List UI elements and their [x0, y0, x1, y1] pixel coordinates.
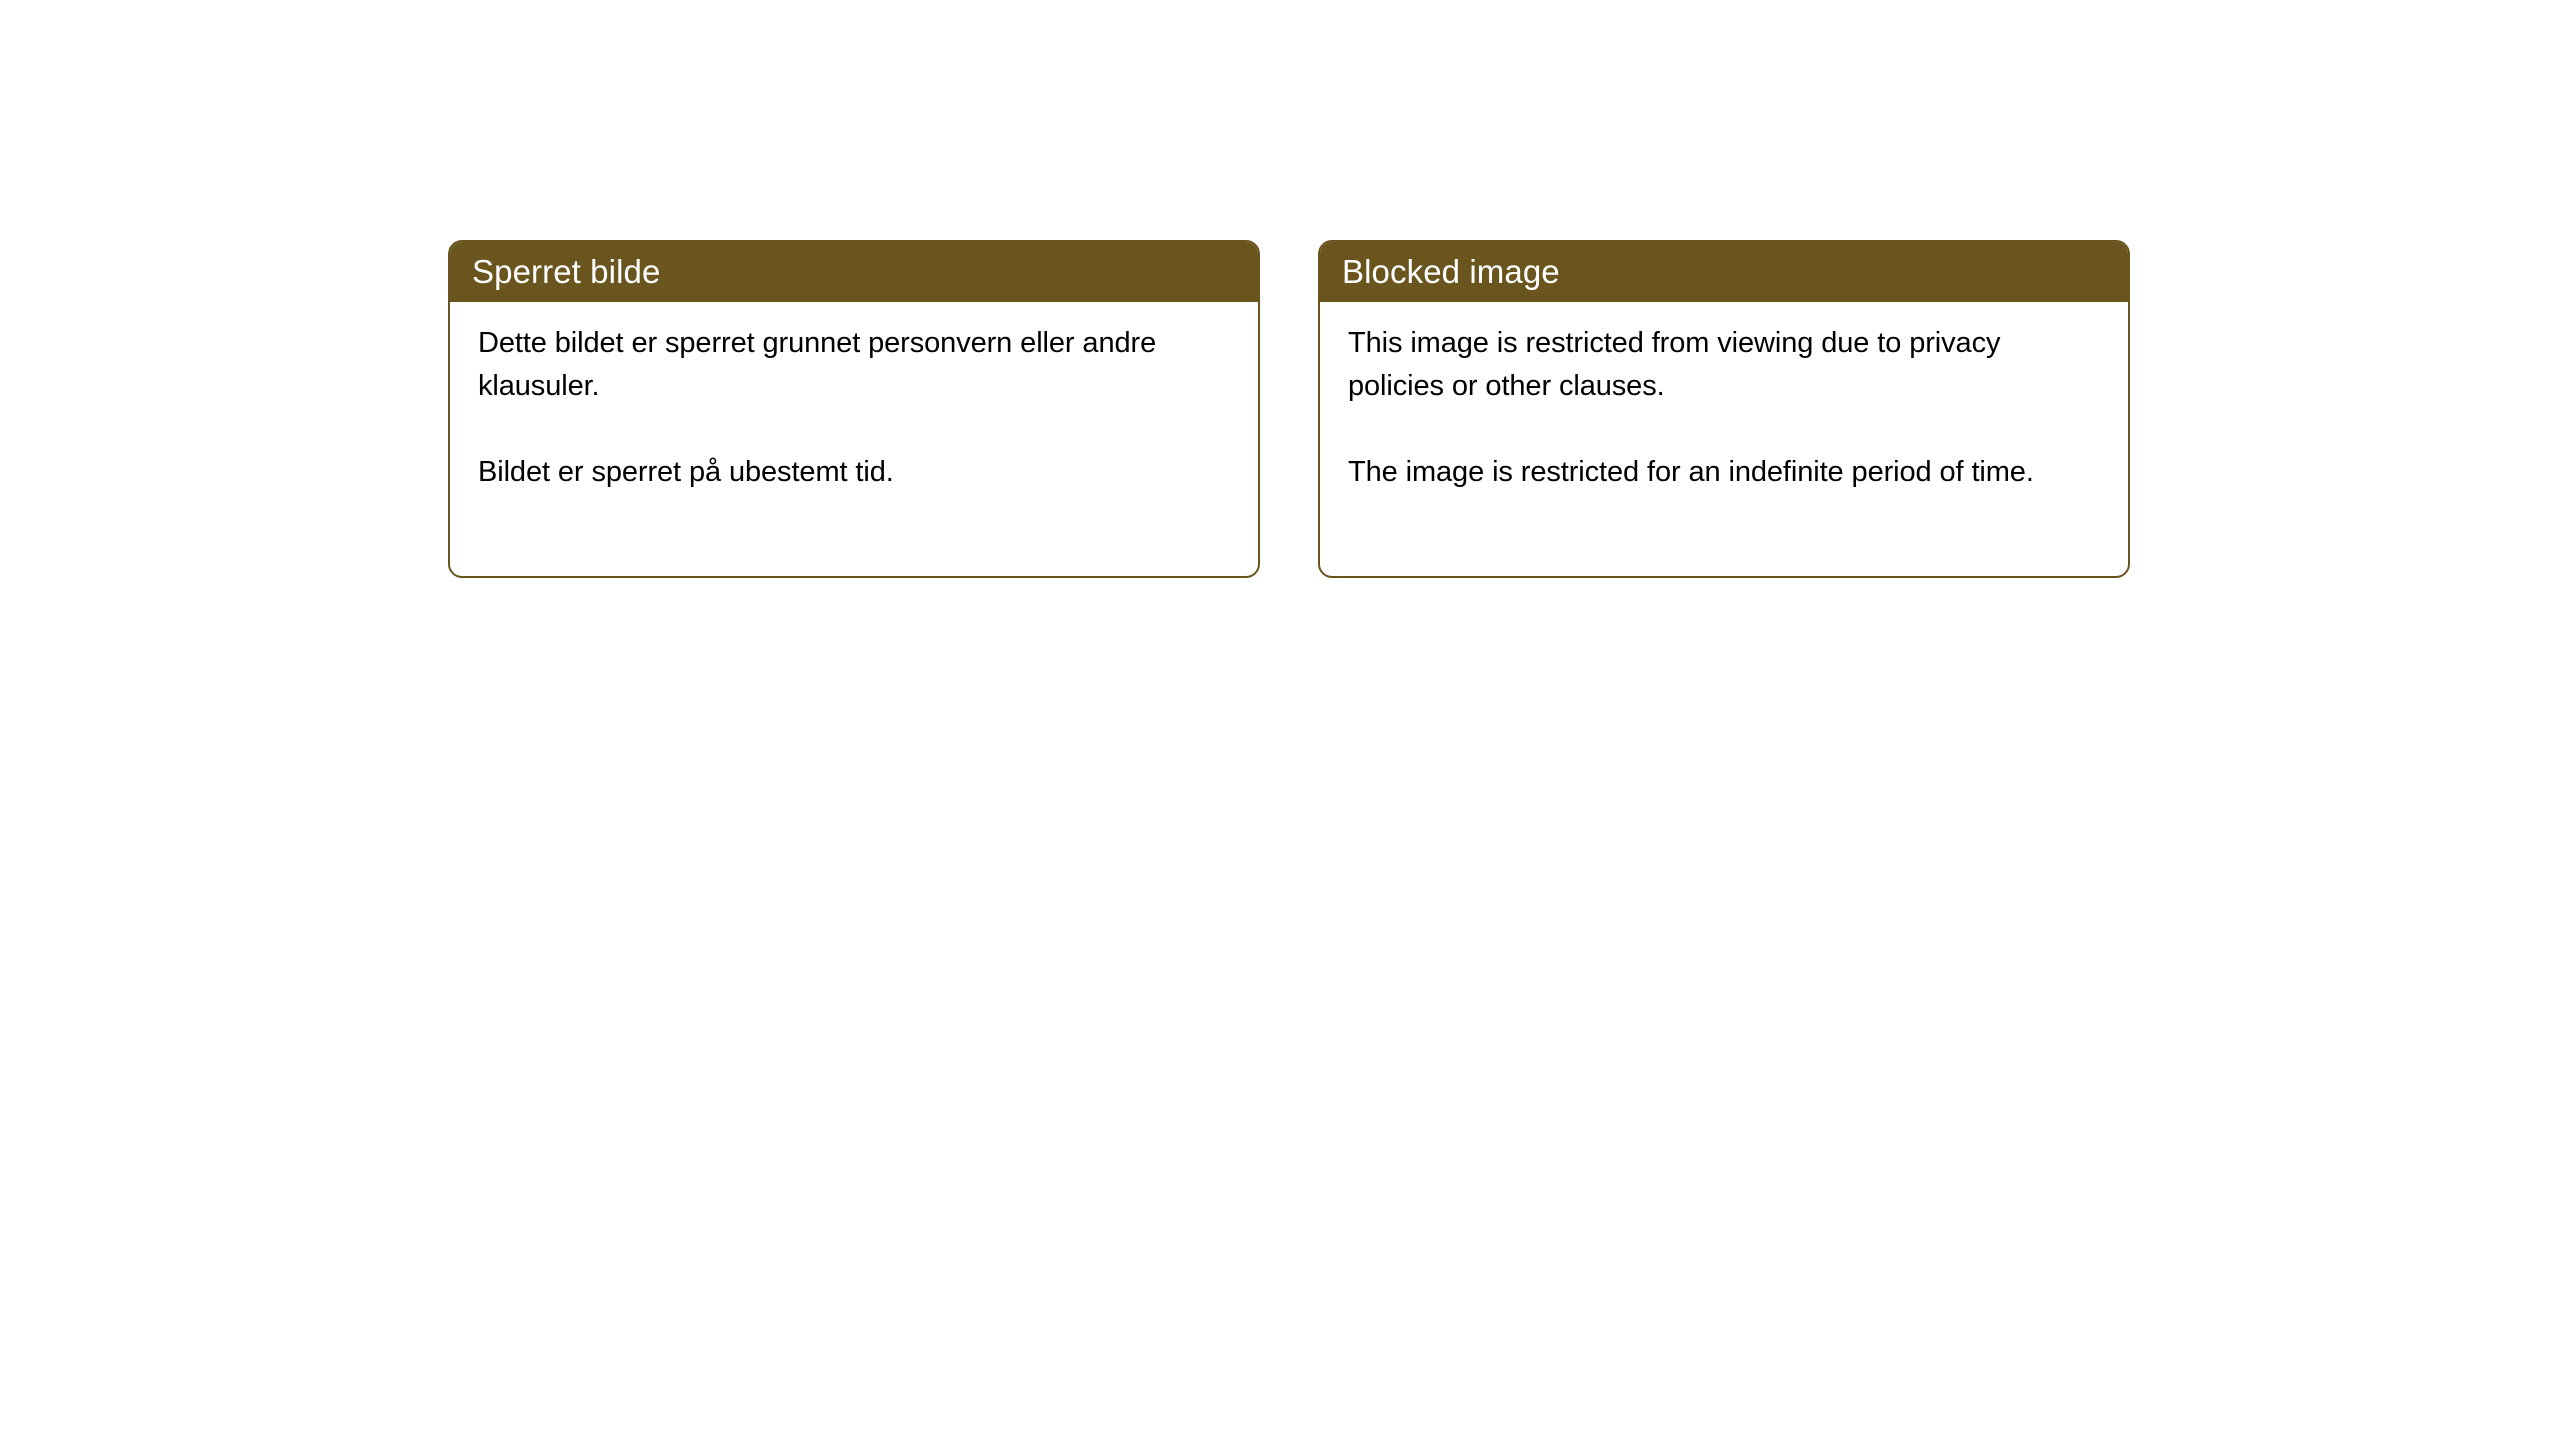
- card-paragraph-reason-norwegian: Dette bildet er sperret grunnet personve…: [478, 322, 1230, 408]
- card-body-norwegian: Dette bildet er sperret grunnet personve…: [450, 302, 1258, 494]
- blocked-image-notice-card-english: Blocked image This image is restricted f…: [1318, 240, 2130, 578]
- card-paragraph-duration-english: The image is restricted for an indefinit…: [1348, 451, 2100, 494]
- page-canvas: Sperret bilde Dette bildet er sperret gr…: [0, 0, 2560, 1440]
- card-body-english: This image is restricted from viewing du…: [1320, 302, 2128, 494]
- blocked-image-notice-card-norwegian: Sperret bilde Dette bildet er sperret gr…: [448, 240, 1260, 578]
- card-header-norwegian: Sperret bilde: [448, 240, 1260, 302]
- card-title-norwegian: Sperret bilde: [472, 255, 660, 288]
- card-paragraph-duration-norwegian: Bildet er sperret på ubestemt tid.: [478, 451, 1230, 494]
- card-paragraph-reason-english: This image is restricted from viewing du…: [1348, 322, 2100, 408]
- card-header-english: Blocked image: [1318, 240, 2130, 302]
- card-title-english: Blocked image: [1342, 255, 1560, 288]
